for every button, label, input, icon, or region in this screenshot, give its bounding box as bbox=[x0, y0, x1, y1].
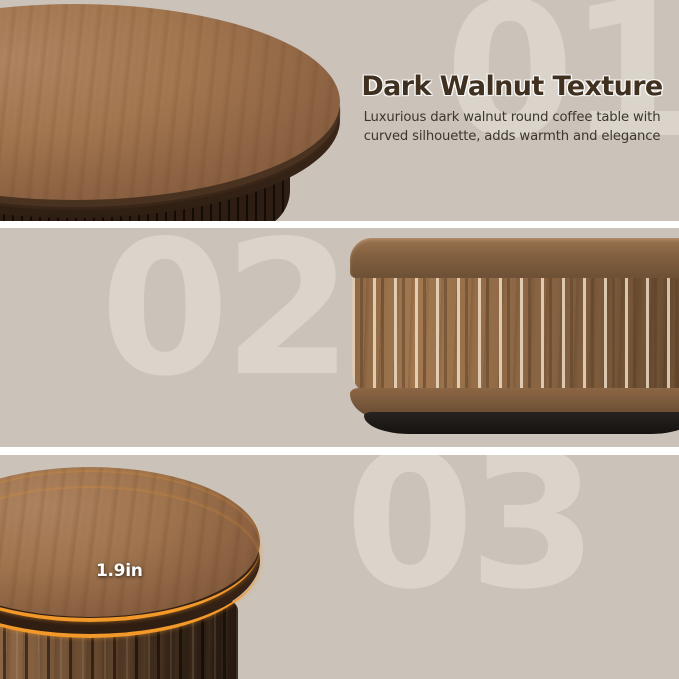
panel-divider-2 bbox=[0, 447, 679, 455]
fluted-slats bbox=[352, 268, 679, 398]
feature-panel-01: 01 Dark Walnut Texture Luxurious dark wa… bbox=[0, 0, 679, 221]
fluted-plinth bbox=[364, 412, 679, 434]
panel-divider-1 bbox=[0, 221, 679, 228]
panel-number-watermark-02: 02 bbox=[100, 230, 347, 388]
panel-number-watermark-03: 03 bbox=[345, 455, 592, 601]
thickness-measurement-label: 1.9in bbox=[96, 561, 143, 581]
panel-01-body-text: Luxurious dark walnut round coffee table… bbox=[352, 109, 672, 146]
fluted-top-rim bbox=[350, 238, 679, 278]
panel-01-headline: Dark Walnut Texture bbox=[352, 72, 672, 102]
panel-01-text-block: Dark Walnut Texture Luxurious dark walnu… bbox=[352, 72, 672, 147]
feature-panel-02: 02 Fluted Base Design Artisan semi-circu… bbox=[0, 228, 679, 447]
product-feature-infographic: 01 Dark Walnut Texture Luxurious dark wa… bbox=[0, 0, 679, 679]
fluted-base-image bbox=[350, 230, 679, 442]
